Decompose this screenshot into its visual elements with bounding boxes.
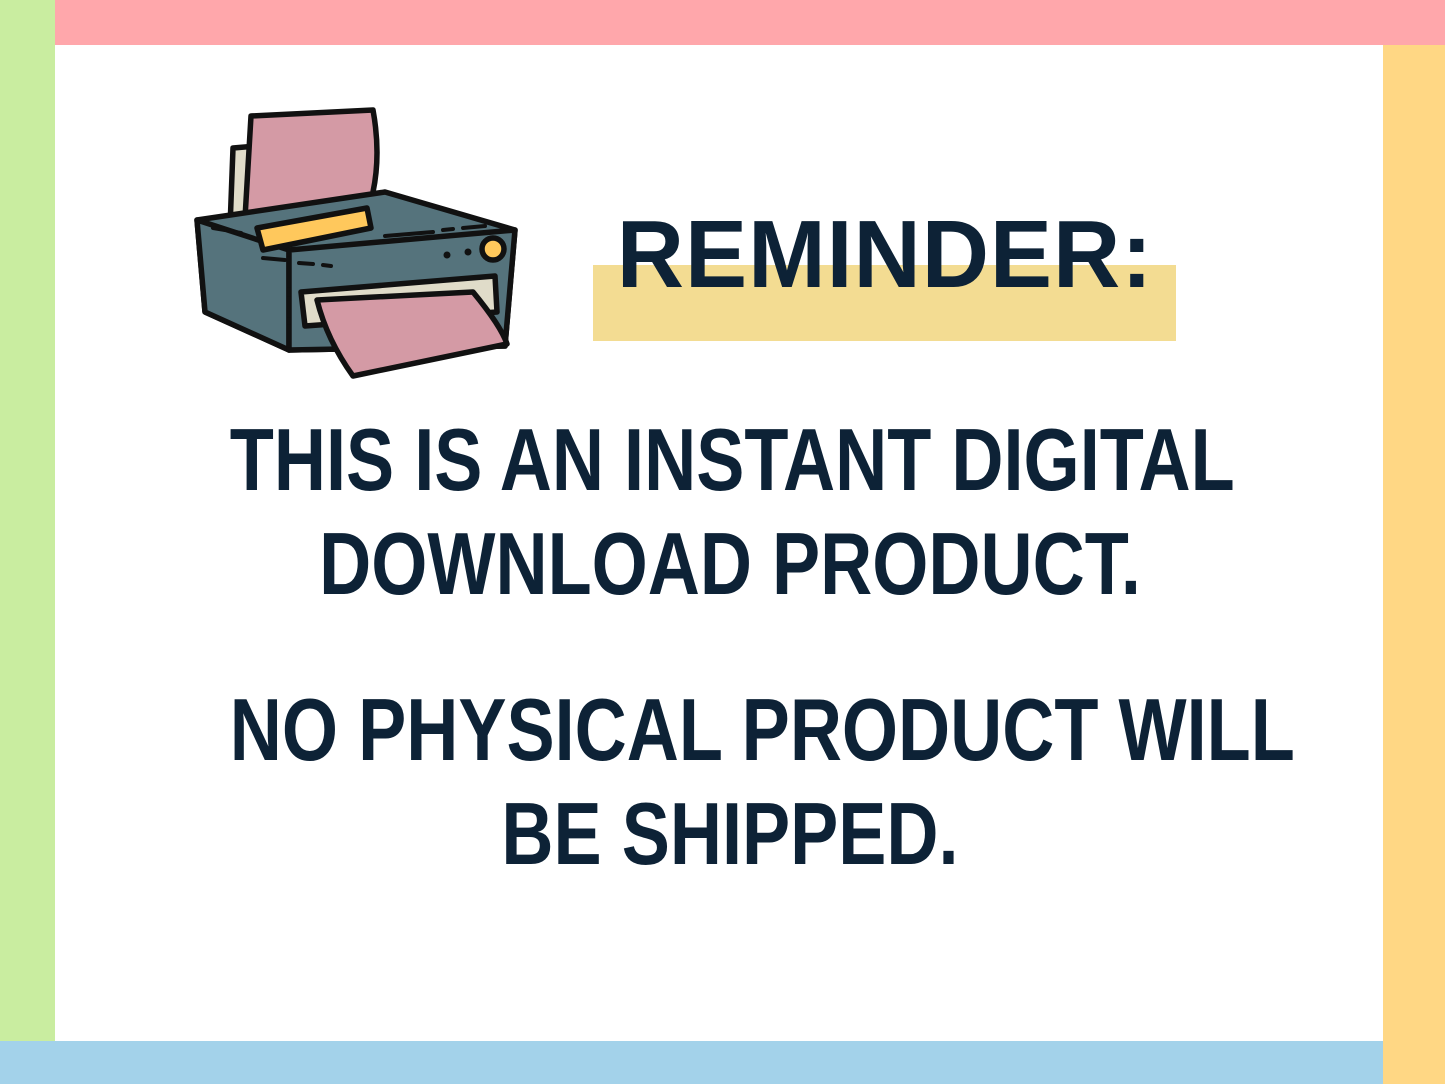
- printer-icon: [185, 100, 540, 380]
- printer-indicator-dot-2-icon: [465, 249, 472, 256]
- printer-seam-5-icon: [323, 265, 331, 266]
- body-line-3: NO PHYSICAL PRODUCT WILL: [230, 678, 1230, 782]
- body-line-1: THIS IS AN INSTANT DIGITAL: [230, 408, 1230, 512]
- printer-output-paper-icon: [317, 292, 507, 376]
- page-title: REMINDER:: [570, 200, 1201, 310]
- printer-seam-2-icon: [235, 232, 241, 233]
- printer-indicator-dot-1-icon: [444, 252, 451, 259]
- body-paragraph-gap: [120, 616, 1340, 678]
- printer-seam-7-icon: [443, 229, 453, 230]
- heading-block: REMINDER:: [560, 200, 1210, 360]
- printer-seam-3-icon: [263, 258, 285, 260]
- body-line-2: DOWNLOAD PRODUCT.: [230, 512, 1230, 616]
- decor-band-left-green: [0, 0, 55, 1041]
- printer-power-button-icon: [482, 238, 504, 260]
- reminder-graphic-canvas: REMINDER: THIS IS AN INSTANT DIGITAL DOW…: [0, 0, 1445, 1084]
- body-copy: THIS IS AN INSTANT DIGITAL DOWNLOAD PROD…: [120, 408, 1340, 886]
- printer-seam-8-icon: [463, 226, 485, 228]
- printer-seam-4-icon: [299, 263, 313, 264]
- body-line-4: BE SHIPPED.: [230, 782, 1230, 886]
- decor-band-right-yellow: [1383, 45, 1445, 1084]
- decor-band-top-pink: [55, 0, 1445, 45]
- decor-band-bottom-blue: [0, 1041, 1383, 1084]
- printer-seam-1-icon: [213, 228, 225, 230]
